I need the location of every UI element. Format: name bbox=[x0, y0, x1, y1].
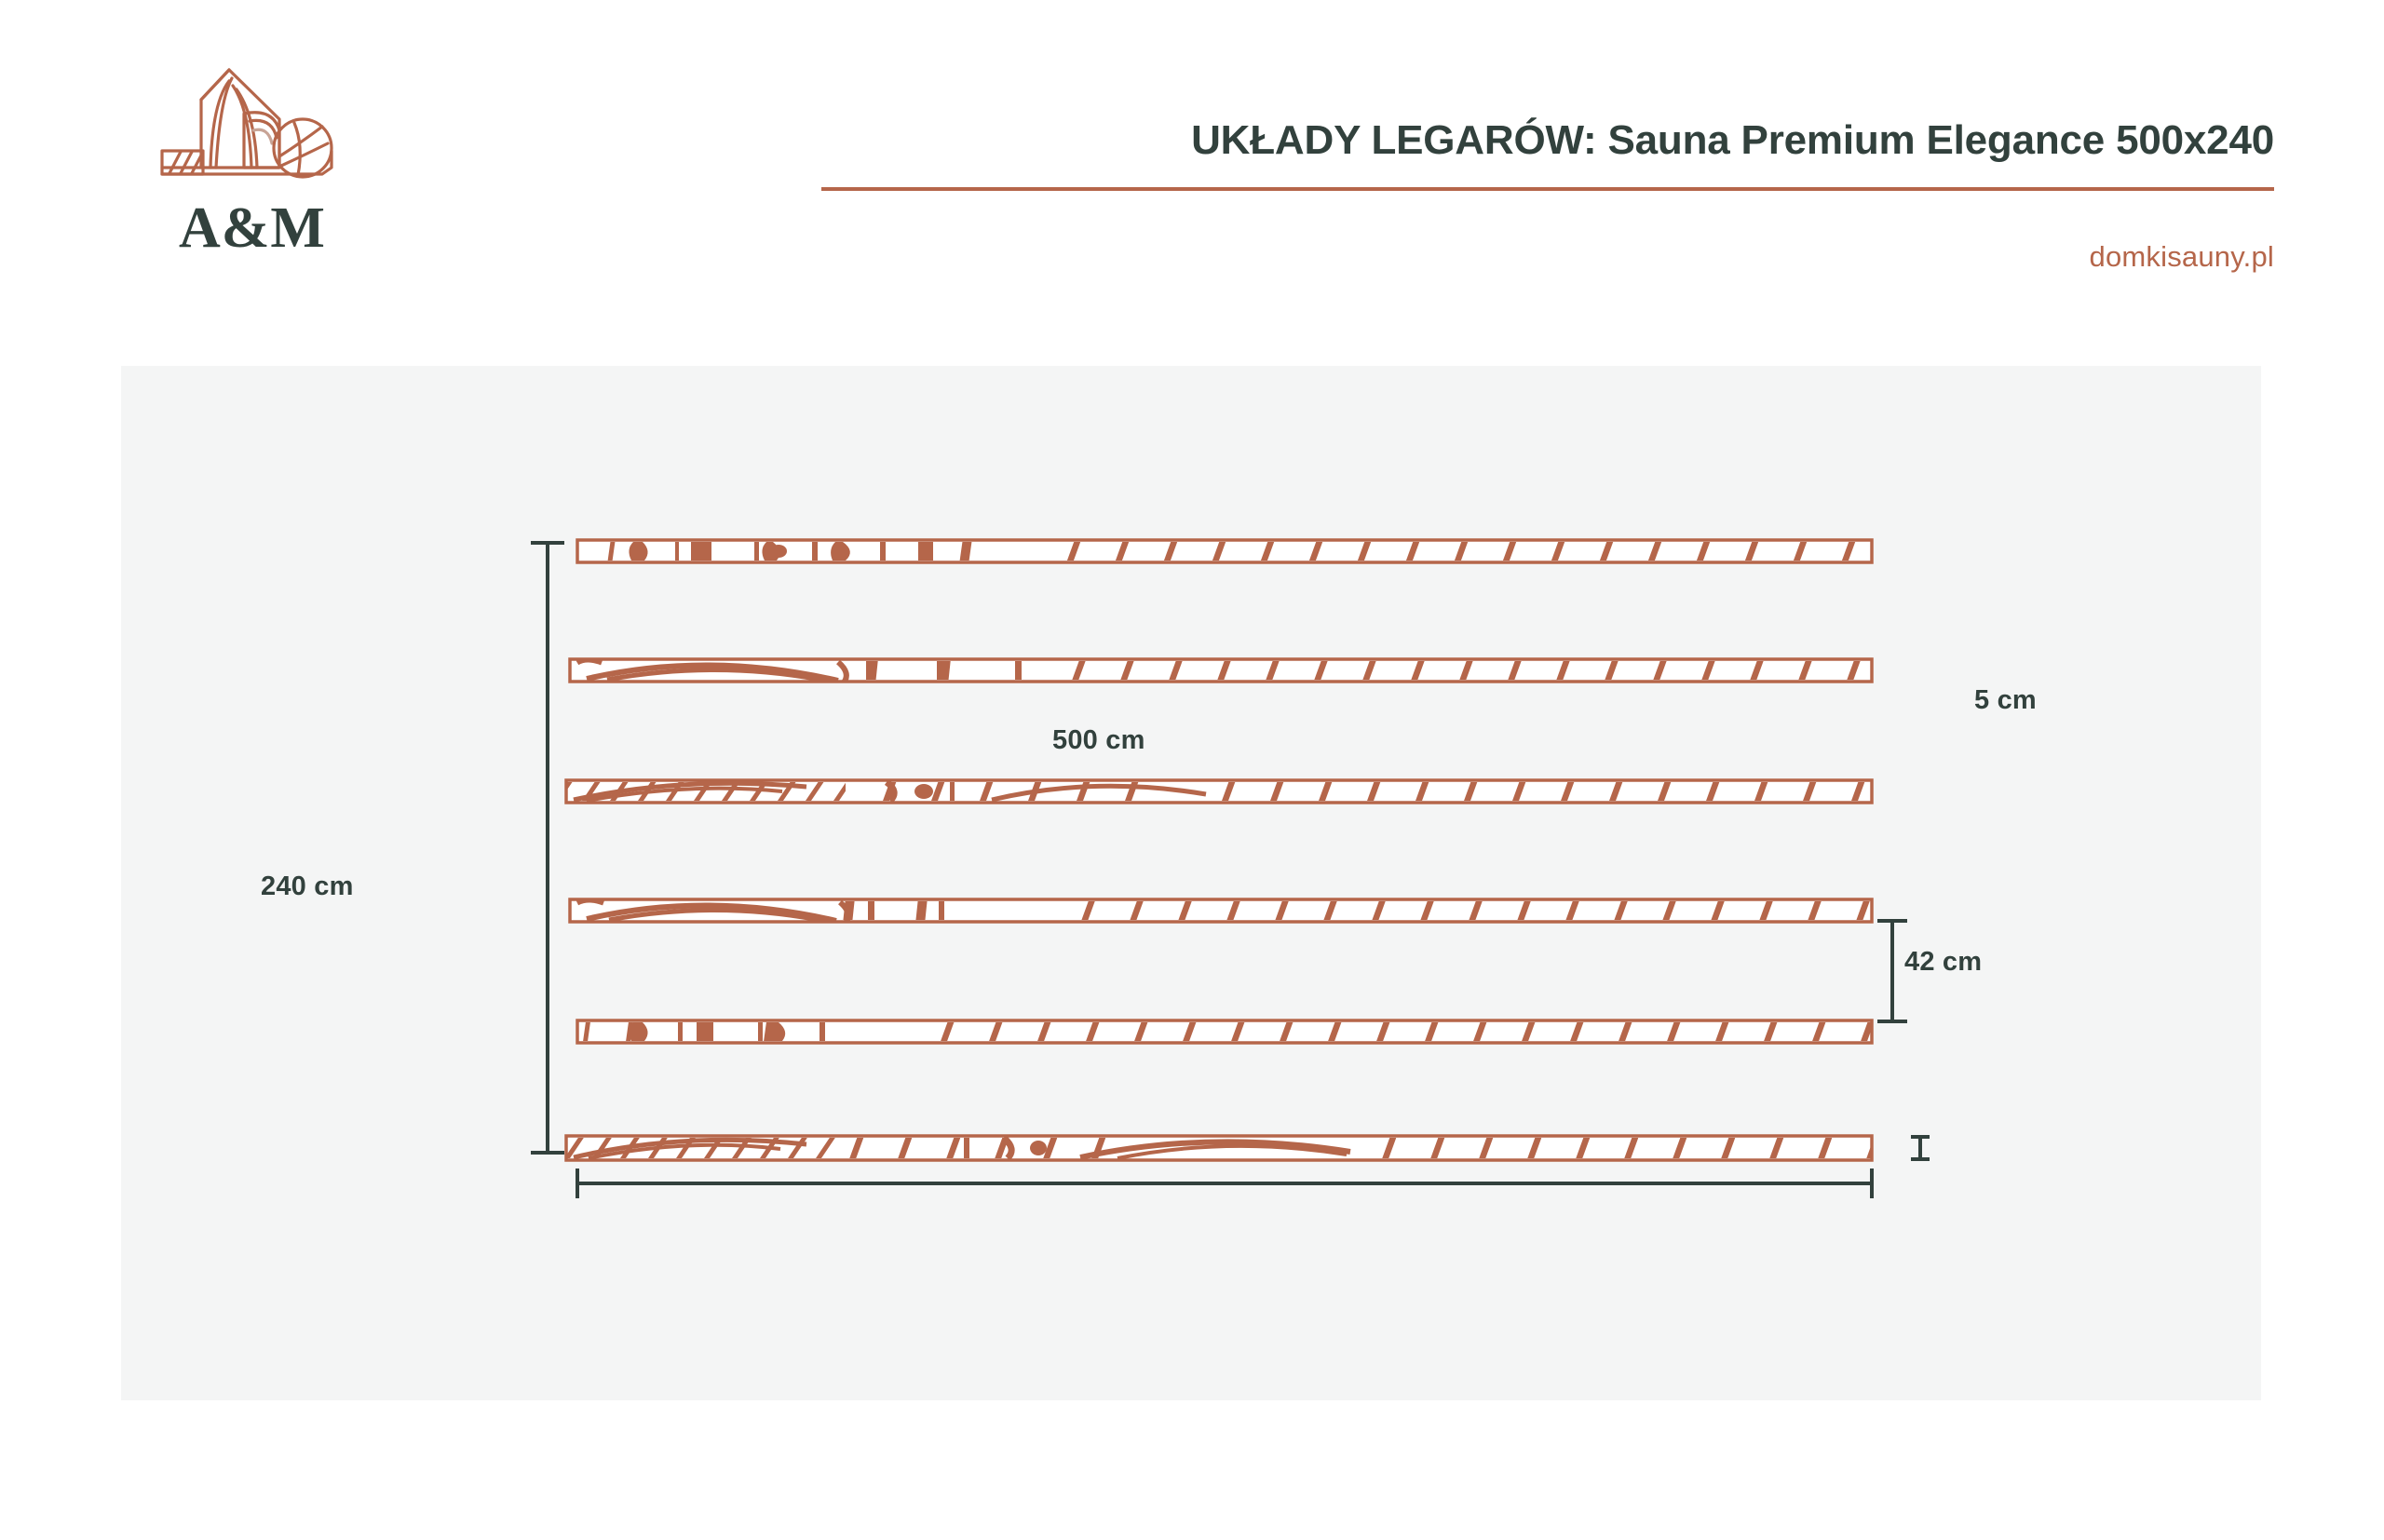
drawing-panel: 240 cm 42 cm 5 cm 500 cm bbox=[121, 366, 2261, 1400]
title-divider bbox=[821, 187, 2274, 191]
dimension-line-thickness bbox=[1911, 1137, 1930, 1159]
dimension-label-thickness: 5 cm bbox=[1974, 685, 2037, 716]
joist-plank-6 bbox=[566, 1136, 1872, 1160]
dimension-label-spacing: 42 cm bbox=[1904, 947, 1982, 978]
joist-plank-4 bbox=[570, 899, 1872, 923]
joist-plank-5 bbox=[577, 1020, 1872, 1043]
joist-plank-3 bbox=[566, 780, 1872, 803]
joist-layout-drawing bbox=[121, 366, 2261, 1400]
dimension-label-height: 240 cm bbox=[261, 871, 354, 902]
dimension-line-height bbox=[531, 543, 564, 1153]
site-url-link[interactable]: domkisauny.pl bbox=[2090, 240, 2274, 274]
dimension-label-width: 500 cm bbox=[1052, 725, 1145, 756]
am-cabin-logo-icon bbox=[140, 58, 363, 197]
dimension-line-spacing bbox=[1877, 921, 1907, 1021]
page-header: A&M UKŁADY LEGARÓW: Sauna Premium Elegan… bbox=[0, 0, 2384, 366]
page-title: UKŁADY LEGARÓW: Sauna Premium Elegance 5… bbox=[821, 117, 2274, 165]
title-block: UKŁADY LEGARÓW: Sauna Premium Elegance 5… bbox=[821, 117, 2274, 191]
brand-logo: A&M bbox=[140, 58, 382, 281]
dimension-line-width bbox=[577, 1169, 1872, 1198]
page-root: A&M UKŁADY LEGARÓW: Sauna Premium Elegan… bbox=[0, 0, 2384, 1540]
joist-plank-1 bbox=[577, 540, 1984, 562]
joist-plank-2 bbox=[570, 659, 1872, 682]
brand-wordmark: A&M bbox=[145, 199, 359, 257]
